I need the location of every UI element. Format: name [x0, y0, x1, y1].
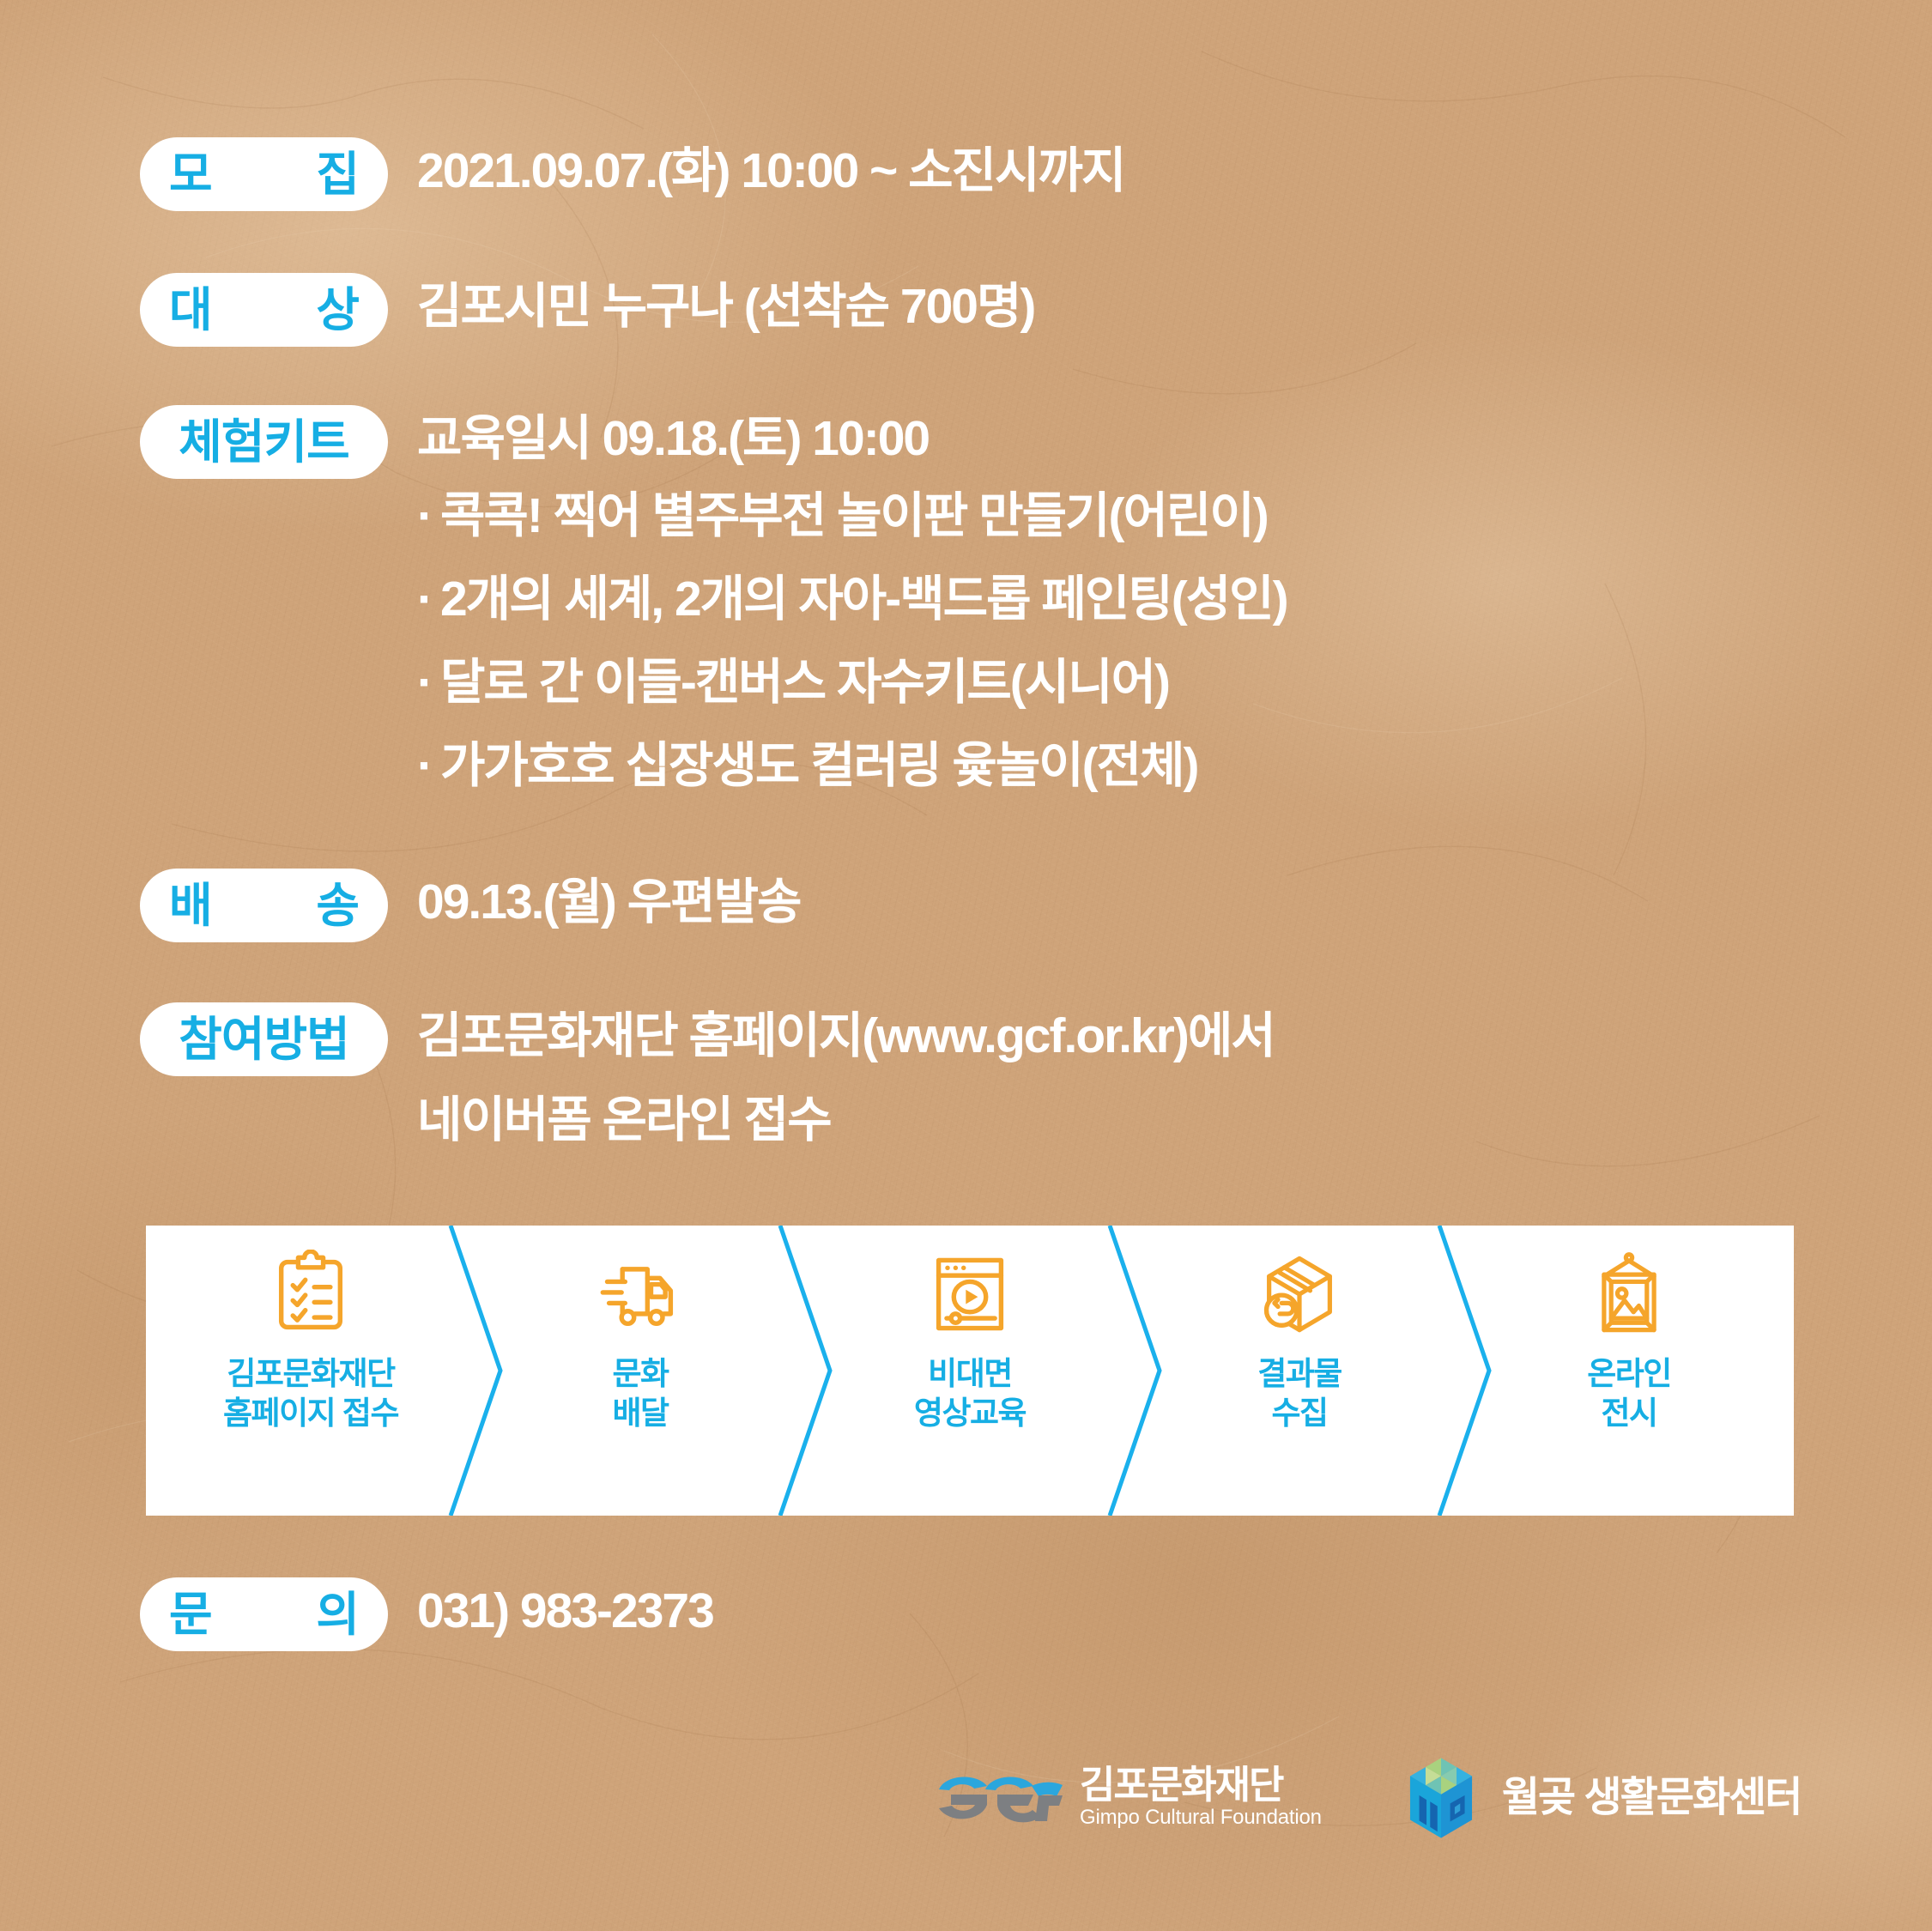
label-pill-shipping-char1: 배 — [169, 882, 212, 929]
flow-label-line2: 홈페이지 접수 — [223, 1394, 398, 1433]
label-pill-kit: 체험키트 — [140, 405, 388, 479]
value-howto-line1: 김포문화재단 홈페이지(www.gcf.or.kr)에서 — [417, 1002, 1275, 1065]
kit-item-text: 달로 간 이들-캔버스 자수키트(시니어) — [440, 655, 1169, 710]
flow-step-1-label: 김포문화재단 홈페이지 접수 — [223, 1354, 398, 1433]
flow-step-4-label: 결과물 수집 — [1257, 1354, 1341, 1433]
framed-picture-icon — [1584, 1250, 1674, 1339]
flow-step-5-label: 온라인 전시 — [1587, 1354, 1671, 1433]
delivery-truck-icon — [596, 1250, 685, 1339]
value-recruit: 2021.09.07.(화) 10:00 ~ 소진시까지 — [417, 137, 1124, 200]
info-row-howto: 참여방법 김포문화재단 홈페이지(www.gcf.or.kr)에서 네이버폼 온… — [140, 1002, 1275, 1145]
label-pill-target-char2: 상 — [316, 287, 359, 334]
value-target: 김포시민 누구나 (선착순 700명) — [417, 273, 1034, 336]
flow-label-line2: 영상교육 — [914, 1394, 1026, 1433]
info-row-target: 대 상 김포시민 누구나 (선착순 700명) — [140, 273, 1034, 347]
gcf-logo-mark-icon — [936, 1767, 1064, 1829]
label-pill-contact: 문 의 — [140, 1577, 388, 1651]
list-item: ·콕콕! 찍어 별주부전 놀이판 만들기(어린이) — [417, 492, 1287, 541]
info-row-kit: 체험키트 교육일시 09.18.(토) 10:00 ·콕콕! 찍어 별주부전 놀… — [140, 405, 1287, 825]
flow-label-line1: 결과물 — [1257, 1354, 1341, 1394]
gcf-logo-text: 김포문화재단 Gimpo Cultural Foundation — [1080, 1765, 1322, 1831]
label-pill-target: 대 상 — [140, 273, 388, 347]
label-pill-shipping-char2: 송 — [316, 882, 359, 929]
wolgot-cube-logo-mark-icon — [1396, 1752, 1487, 1843]
label-pill-howto-text: 참여방법 — [179, 1016, 348, 1063]
label-pill-shipping: 배 송 — [140, 869, 388, 942]
bullet-dot: · — [417, 655, 432, 710]
wolgot-logo-text: 월곶 생활문화센터 — [1502, 1777, 1802, 1819]
kit-item-text: 가가호호 십장생도 컬러링 윷놀이(전체) — [440, 738, 1198, 793]
label-pill-recruit-char2: 집 — [316, 151, 359, 198]
kit-item-text: 2개의 세계, 2개의 자아-백드롭 페인팅(성인) — [440, 572, 1287, 627]
footer-logo-group: 김포문화재단 Gimpo Cultural Foundation — [936, 1752, 1801, 1843]
list-item: ·가가호호 십장생도 컬러링 윷놀이(전체) — [417, 742, 1287, 790]
flow-label-line2: 배달 — [612, 1394, 668, 1433]
flow-step-2: 문화 배달 — [475, 1226, 805, 1516]
bullet-dot: · — [417, 488, 432, 543]
value-contact-phone: 031) 983-2373 — [417, 1577, 713, 1640]
flow-step-4: 결과물 수집 — [1135, 1226, 1464, 1516]
flow-label-line2: 수집 — [1257, 1394, 1341, 1433]
info-row-recruit: 모 집 2021.09.07.(화) 10:00 ~ 소진시까지 — [140, 137, 1124, 211]
list-item: ·2개의 세계, 2개의 자아-백드롭 페인팅(성인) — [417, 575, 1287, 624]
list-item: ·달로 간 이들-캔버스 자수키트(시니어) — [417, 658, 1287, 707]
kit-item-list: ·콕콕! 찍어 별주부전 놀이판 만들기(어린이) ·2개의 세계, 2개의 자… — [417, 492, 1287, 790]
flow-step-1: 김포문화재단 홈페이지 접수 — [146, 1226, 475, 1516]
label-pill-recruit: 모 집 — [140, 137, 388, 211]
info-row-contact: 문 의 031) 983-2373 — [140, 1577, 713, 1651]
label-pill-kit-text: 체험키트 — [179, 419, 348, 466]
gcf-korean-name: 김포문화재단 — [1080, 1765, 1322, 1805]
flow-label-line2: 전시 — [1587, 1394, 1671, 1433]
poster-root: 모 집 2021.09.07.(화) 10:00 ~ 소진시까지 대 상 김포시… — [0, 0, 1932, 1931]
flow-step-2-label: 문화 배달 — [612, 1354, 668, 1433]
flow-label-line1: 김포문화재단 — [223, 1354, 398, 1394]
label-pill-recruit-char1: 모 — [169, 151, 212, 198]
flow-label-line1: 문화 — [612, 1354, 668, 1394]
value-shipping: 09.13.(월) 우편발송 — [417, 869, 800, 931]
kit-item-text: 콕콕! 찍어 별주부전 놀이판 만들기(어린이) — [440, 488, 1268, 543]
flow-step-3: 비대면 영상교육 — [805, 1226, 1135, 1516]
wolgot-logo: 월곶 생활문화센터 — [1396, 1752, 1802, 1843]
flow-step-3-label: 비대면 영상교육 — [914, 1354, 1026, 1433]
flow-step-5: 온라인 전시 — [1464, 1226, 1794, 1516]
video-player-window-icon — [925, 1250, 1014, 1339]
flow-label-line1: 온라인 — [1587, 1354, 1671, 1394]
label-pill-howto: 참여방법 — [140, 1002, 388, 1076]
clipboard-checklist-icon — [266, 1250, 355, 1339]
flow-label-line1: 비대면 — [914, 1354, 1026, 1394]
value-kit-date: 교육일시 09.18.(토) 10:00 — [417, 405, 1287, 468]
info-row-shipping: 배 송 09.13.(월) 우편발송 — [140, 869, 800, 942]
label-pill-contact-char1: 문 — [169, 1591, 212, 1638]
bullet-dot: · — [417, 572, 432, 627]
value-howto-line2: 네이버폼 온라인 접수 — [417, 1096, 1275, 1145]
gcf-logo: 김포문화재단 Gimpo Cultural Foundation — [936, 1765, 1322, 1831]
label-pill-target-char1: 대 — [169, 287, 212, 334]
label-pill-contact-char2: 의 — [316, 1591, 359, 1638]
bullet-dot: · — [417, 738, 432, 793]
gcf-english-name: Gimpo Cultural Foundation — [1080, 1805, 1322, 1831]
process-flow-panel: 김포문화재단 홈페이지 접수 — [146, 1226, 1794, 1516]
package-return-box-icon — [1255, 1250, 1344, 1339]
